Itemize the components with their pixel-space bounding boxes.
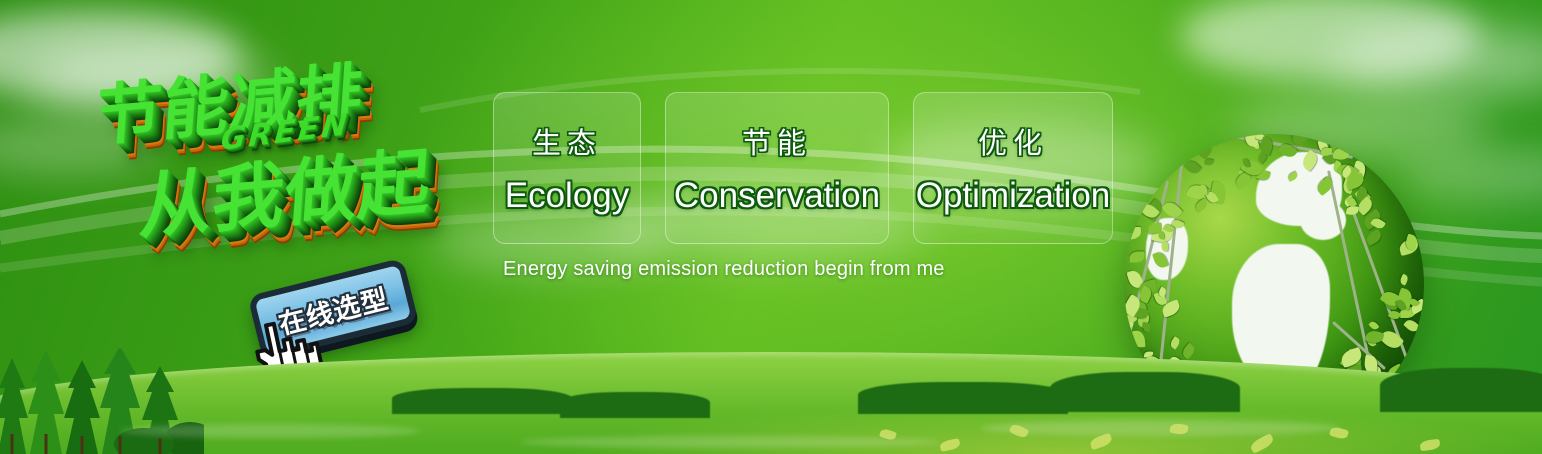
globe-leaf-icon bbox=[1399, 274, 1410, 286]
globe-leaf-icon bbox=[1197, 140, 1216, 160]
feature-card-conservation[interactable]: 节能 Conservation bbox=[665, 92, 889, 244]
grass-texture bbox=[980, 420, 1340, 436]
feature-card-en-label: Ecology bbox=[505, 176, 630, 216]
globe-leaf-icon bbox=[1200, 185, 1208, 195]
grass-texture bbox=[520, 436, 940, 448]
globe-leaf-icon bbox=[1169, 337, 1181, 350]
banner-tagline: Energy saving emission reduction begin f… bbox=[503, 258, 945, 281]
globe-leaf-icon bbox=[1183, 158, 1201, 176]
globe-leaf-icon bbox=[1130, 252, 1145, 263]
headline-3d-title: 节能减排 GREEN 从我做起 bbox=[86, 25, 506, 309]
feature-card-cn-label: 节能 bbox=[742, 120, 812, 162]
globe-leaf-icon bbox=[1387, 309, 1400, 321]
globe-leaf-icon bbox=[1403, 318, 1420, 334]
globe-leaf-icon bbox=[1132, 330, 1146, 348]
globe-leaf-icon bbox=[1345, 206, 1358, 216]
globe-leaf-icon bbox=[1365, 229, 1384, 247]
globe-leaf-icon bbox=[1181, 342, 1197, 359]
globe-leaf-icon bbox=[1368, 320, 1379, 332]
grass-texture bbox=[120, 424, 420, 438]
feature-card-en-label: Optimization bbox=[916, 176, 1111, 216]
tree-line bbox=[560, 392, 710, 418]
cloud-icon bbox=[1330, 26, 1542, 96]
globe-leaf-icon bbox=[1193, 198, 1209, 213]
feature-card-list: 生态 Ecology 节能 Conservation 优化 Optimizati… bbox=[493, 92, 1113, 244]
feature-card-cn-label: 优化 bbox=[978, 120, 1048, 162]
globe-leaf-icon bbox=[1124, 227, 1142, 240]
online-selection-button-label: 在线选型 bbox=[274, 277, 392, 342]
pine-tree-cluster-icon bbox=[0, 348, 204, 454]
globe-leaf-icon bbox=[1205, 159, 1214, 166]
feature-card-optimization[interactable]: 优化 Optimization bbox=[913, 92, 1113, 244]
eco-promo-banner: 节能减排 GREEN 从我做起 在线选型 生态 Ecology 节能 Conse… bbox=[0, 0, 1542, 454]
feature-card-cn-label: 生态 bbox=[532, 120, 602, 162]
feature-card-en-label: Conservation bbox=[674, 176, 880, 216]
cloud-icon bbox=[1180, 0, 1480, 82]
tree-line bbox=[1050, 372, 1240, 412]
tree-line bbox=[392, 388, 572, 414]
tree-line bbox=[858, 382, 1068, 414]
globe-leaf-icon bbox=[1143, 322, 1151, 332]
tree-line bbox=[1380, 368, 1542, 412]
feature-card-ecology[interactable]: 生态 Ecology bbox=[493, 92, 641, 244]
